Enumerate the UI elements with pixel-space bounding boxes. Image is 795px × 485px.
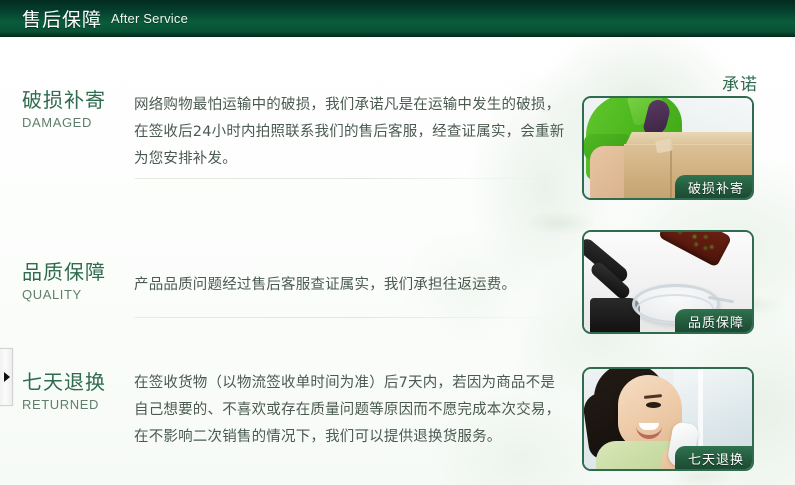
image-caption-text: 破损补寄 <box>688 178 744 197</box>
service-image-card-quality: 品质保障 <box>582 230 754 334</box>
service-image-card-returned: 七天退换 <box>582 367 754 471</box>
image-caption-text: 七天退换 <box>688 449 744 468</box>
row-label-returned: 七天退换 RETURNED <box>22 370 132 413</box>
row-text-damaged: 网络购物最怕运输中的破损，我们承诺凡是在运输中发生的破损，在签收后24小时内拍照… <box>134 92 566 173</box>
section-header: 售后保障 After Service <box>0 0 795 37</box>
image-caption-banner: 破损补寄 <box>675 175 753 199</box>
row-label-en: DAMAGED <box>22 114 132 131</box>
row-text-quality: 产品品质问题经过售后客服查证属实，我们承担往返运费。 <box>134 272 566 299</box>
image-caption-text: 品质保障 <box>688 312 744 331</box>
row-label-damaged: 破损补寄 DAMAGED <box>22 88 132 131</box>
after-service-panel: 售后保障 After Service 承诺 破损补寄 DAMAGED 网络购物最… <box>0 0 795 485</box>
row-label-cn: 品质保障 <box>22 260 132 284</box>
row-label-quality: 品质保障 QUALITY <box>22 260 132 303</box>
row-label-cn: 破损补寄 <box>22 88 132 112</box>
row-label-cn: 七天退换 <box>22 370 132 394</box>
sidebar-expand-tab[interactable] <box>0 348 13 406</box>
row-divider <box>135 317 555 318</box>
image-caption-banner: 品质保障 <box>675 309 753 333</box>
header-title-cn: 售后保障 <box>22 5 102 32</box>
triangle-right-icon <box>4 372 10 382</box>
promise-label: 承诺 <box>700 70 758 95</box>
row-divider <box>135 178 555 179</box>
row-label-en: RETURNED <box>22 396 132 413</box>
row-text-returned: 在签收货物（以物流签收单时间为准）后7天内，若因为商品不是自己想要的、不喜欢或存… <box>134 370 566 451</box>
service-image-card-damaged: 破损补寄 <box>582 96 754 200</box>
row-label-en: QUALITY <box>22 286 132 303</box>
header-title-en: After Service <box>111 11 188 26</box>
image-caption-banner: 七天退换 <box>675 446 753 470</box>
